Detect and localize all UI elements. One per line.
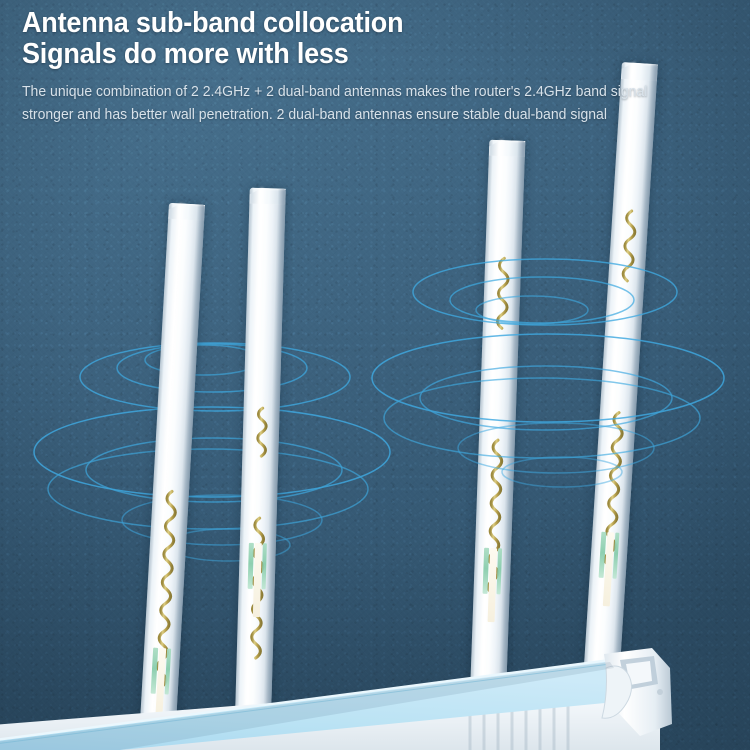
body-copy: The unique combination of 2 2.4GHz + 2 d… [22, 81, 684, 126]
headline-line-1: Antenna sub-band collocation [22, 8, 684, 39]
headline-line-2: Signals do more with less [22, 39, 684, 70]
product-banner: Antenna sub-band collocation Signals do … [0, 0, 750, 750]
copy-block: Antenna sub-band collocation Signals do … [22, 8, 734, 126]
